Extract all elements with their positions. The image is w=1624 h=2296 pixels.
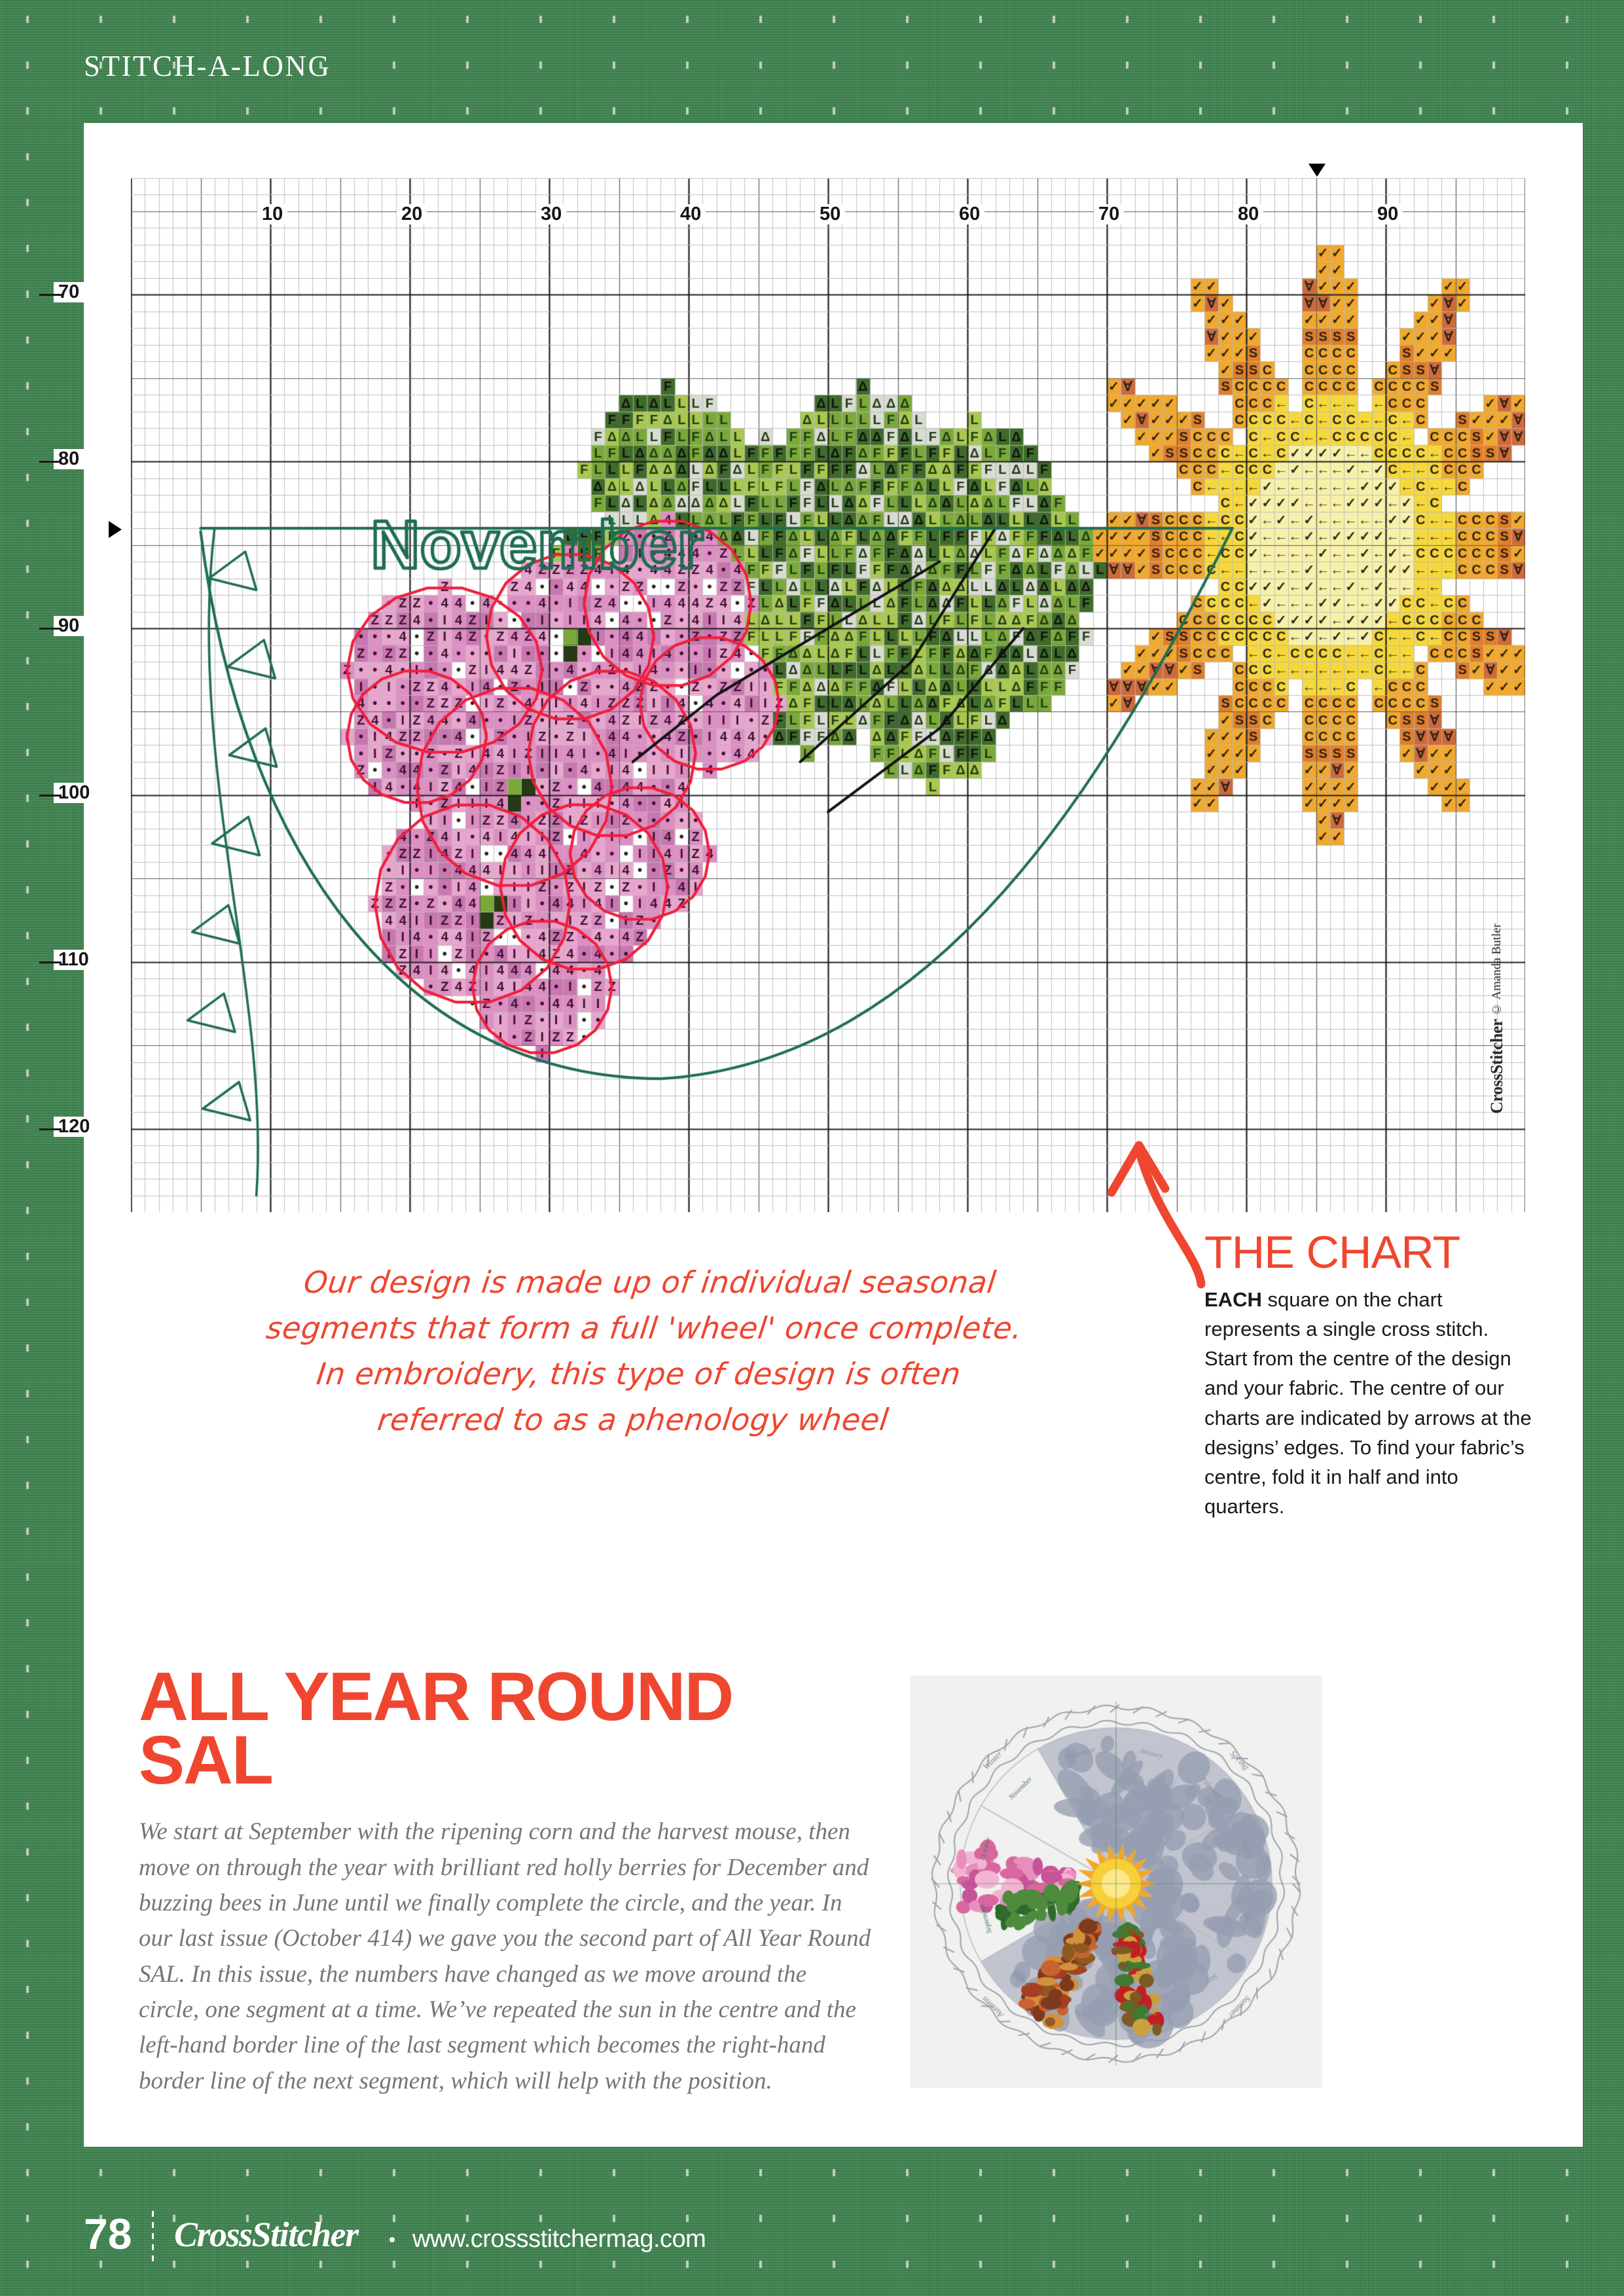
all-year-round-sal-section: ALL YEAR ROUND SAL We start at September… xyxy=(139,1666,872,2099)
chart-grid-canvas xyxy=(131,178,1525,1212)
footer-bullet-icon xyxy=(389,2237,395,2242)
phenology-wheel-photo xyxy=(910,1676,1322,2088)
handwritten-pull-quote: Our design is made up of individual seas… xyxy=(172,1260,1111,1443)
pull-quote-line-3: In embroidery, this type of design is of… xyxy=(177,1352,1100,1397)
chart-row-tick xyxy=(39,961,62,963)
chart-row-label: 100 xyxy=(54,783,94,803)
chart-row-tick xyxy=(39,461,62,463)
chart-col-label: 40 xyxy=(676,204,706,224)
chart-row-tick xyxy=(39,294,62,296)
chart-row-tick xyxy=(39,1128,62,1130)
chart-row-tick xyxy=(39,795,62,797)
credit-brand: CrossStitcher xyxy=(1487,1019,1506,1114)
sal-heading: ALL YEAR ROUND SAL xyxy=(139,1666,872,1792)
chart-row-label: 80 xyxy=(54,449,84,469)
chart-credit: CrossStitcher © Amanda Butler xyxy=(1487,924,1507,1114)
credit-text: © Amanda Butler xyxy=(1490,924,1504,1016)
footer-divider xyxy=(152,2211,154,2262)
chart-col-label: 30 xyxy=(536,204,566,224)
chart-col-label: 10 xyxy=(257,204,287,224)
chart-row-tick xyxy=(39,628,62,630)
chart-col-label: 90 xyxy=(1373,204,1403,224)
wheel-canvas xyxy=(910,1676,1322,2088)
chart-row-label: 70 xyxy=(54,282,84,302)
chart-col-label: 20 xyxy=(397,204,427,224)
the-chart-body-text: square on the chart represents a single … xyxy=(1204,1288,1532,1518)
footer-brand: CrossStitcher xyxy=(174,2214,358,2255)
chart-col-label: 80 xyxy=(1233,204,1263,224)
pull-quote-line-2: segments that form a full 'wheel' once c… xyxy=(183,1306,1106,1352)
chart-row-label: 120 xyxy=(54,1117,94,1137)
pull-quote-line-1: Our design is made up of individual seas… xyxy=(189,1260,1111,1306)
sal-body: We start at September with the ripening … xyxy=(139,1814,872,2099)
chart-row-label: 110 xyxy=(54,950,94,970)
chart-col-label: 60 xyxy=(954,204,984,224)
page-number: 78 xyxy=(84,2209,132,2259)
chart-row-label: 90 xyxy=(54,616,84,636)
cross-stitch-chart[interactable]: 102030405060708090708090100110120 CrossS… xyxy=(131,178,1525,1212)
chart-col-label: 50 xyxy=(815,204,845,224)
the-chart-lead: EACH xyxy=(1204,1288,1262,1311)
the-chart-note: THE CHART EACH square on the chart repre… xyxy=(1204,1230,1532,1522)
pull-quote-line-4: referred to as a phenology wheel xyxy=(172,1397,1094,1443)
the-chart-body: EACH square on the chart represents a si… xyxy=(1204,1285,1532,1522)
centre-marker-right-icon xyxy=(109,521,122,538)
chart-col-label: 70 xyxy=(1094,204,1124,224)
page-kicker: STITCH-A-LONG xyxy=(84,49,331,83)
the-chart-heading: THE CHART xyxy=(1204,1230,1532,1274)
centre-marker-down-icon xyxy=(1308,164,1326,177)
footer-url[interactable]: www.crossstitchermag.com xyxy=(412,2225,706,2253)
